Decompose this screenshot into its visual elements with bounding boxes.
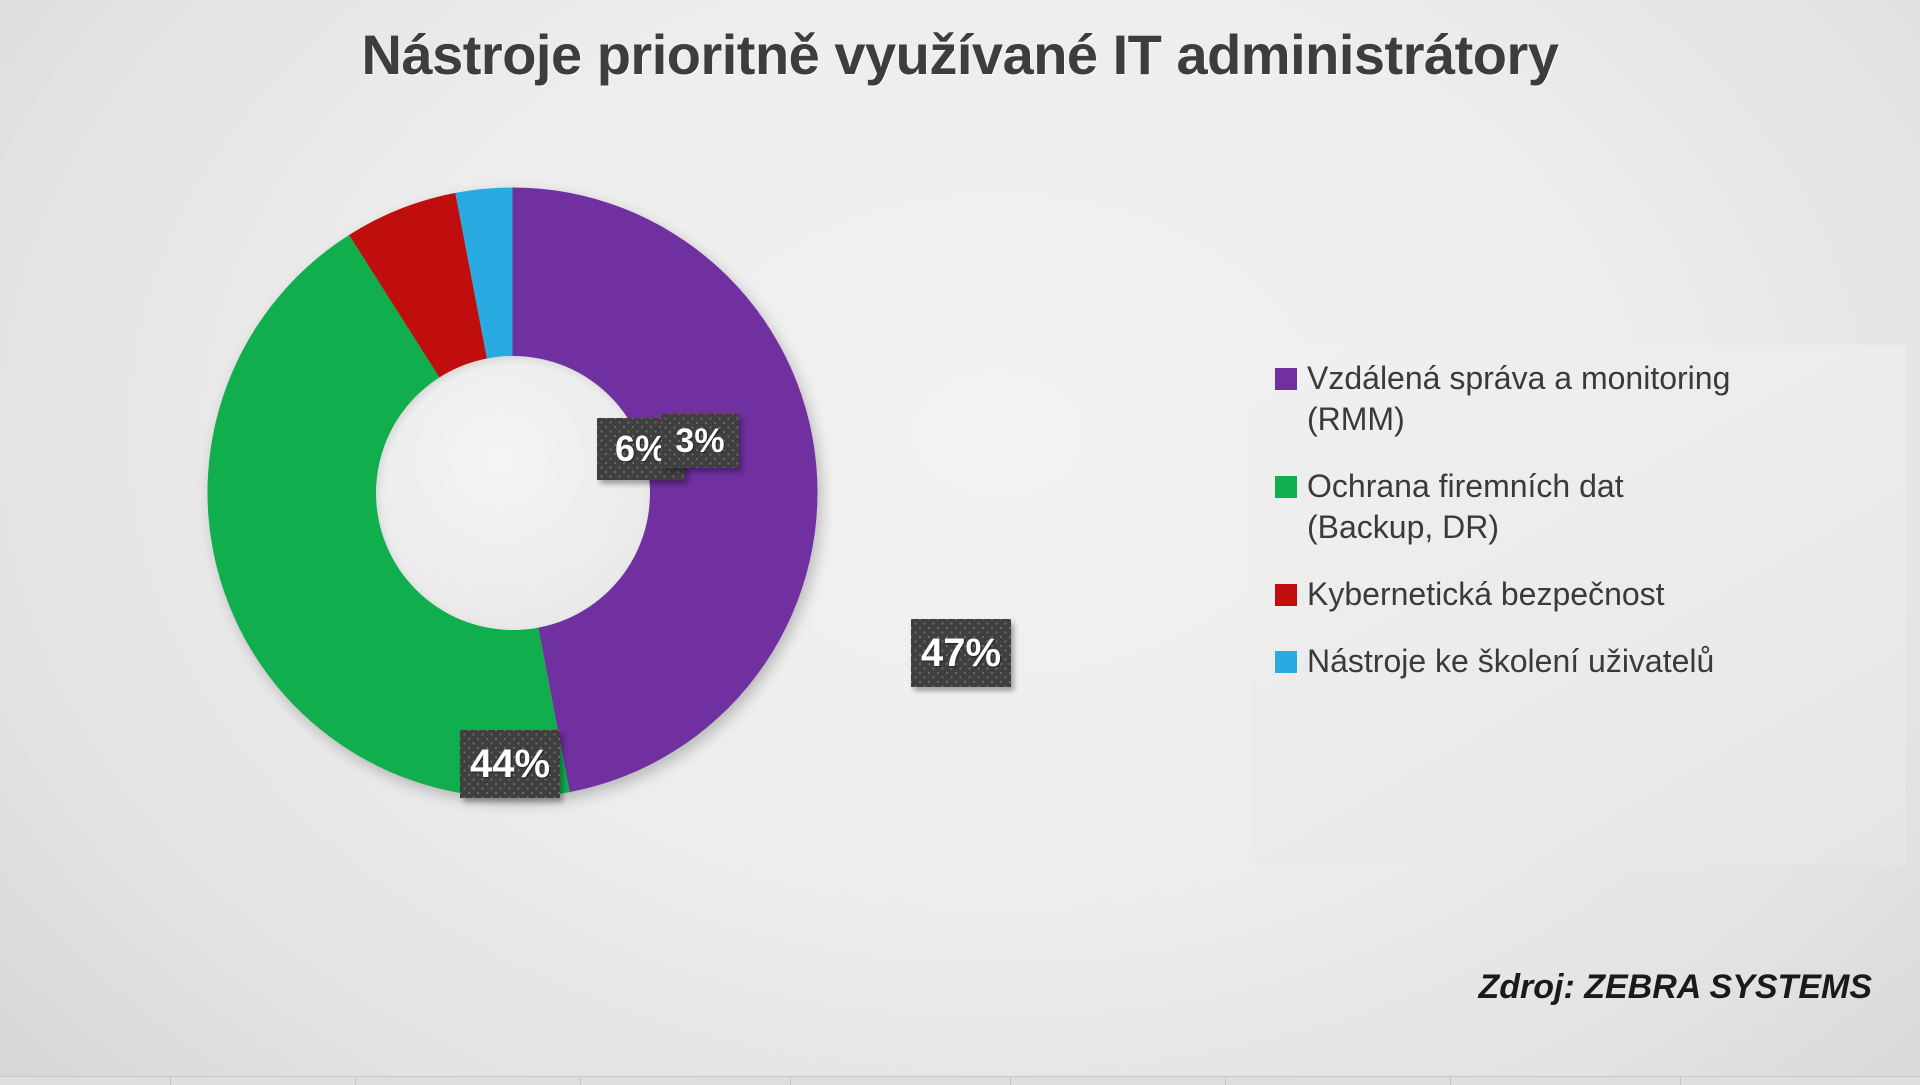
legend-swatch-backup xyxy=(1275,476,1297,498)
strip-tick xyxy=(790,1077,791,1085)
legend-swatch-cyber xyxy=(1275,584,1297,606)
data-label-rmm: 47% xyxy=(911,619,1011,687)
data-label-training: 3% xyxy=(661,414,739,468)
bottom-strip xyxy=(0,1076,1920,1085)
strip-tick xyxy=(1010,1077,1011,1085)
donut-chart-svg xyxy=(205,185,820,800)
legend-label-cyber: Kybernetická bezpečnost xyxy=(1307,574,1665,615)
donut-slice-group xyxy=(208,188,818,798)
legend-item-rmm[interactable]: Vzdálená správa a monitoring (RMM) xyxy=(1275,358,1895,440)
legend-label-backup: Ochrana firemních dat (Backup, DR) xyxy=(1307,466,1624,548)
page-title: Nástroje prioritně využívané IT administ… xyxy=(0,22,1920,87)
strip-tick xyxy=(1450,1077,1451,1085)
donut-slice-rmm[interactable] xyxy=(513,188,818,793)
legend-swatch-training xyxy=(1275,651,1297,673)
legend-swatch-rmm xyxy=(1275,368,1297,390)
legend-item-backup[interactable]: Ochrana firemních dat (Backup, DR) xyxy=(1275,466,1895,548)
source-note: Zdroj: ZEBRA SYSTEMS xyxy=(1478,968,1872,1007)
strip-tick xyxy=(355,1077,356,1085)
legend-list: Vzdálená správa a monitoring (RMM) Ochra… xyxy=(1275,358,1895,742)
legend-panel: Vzdálená správa a monitoring (RMM) Ochra… xyxy=(1249,345,1906,865)
legend-label-training: Nástroje ke školení uživatelů xyxy=(1307,641,1714,682)
legend-label-rmm: Vzdálená správa a monitoring (RMM) xyxy=(1307,358,1730,440)
strip-tick xyxy=(1225,1077,1226,1085)
strip-tick xyxy=(170,1077,171,1085)
strip-tick xyxy=(580,1077,581,1085)
legend-item-training[interactable]: Nástroje ke školení uživatelů xyxy=(1275,641,1895,682)
data-label-backup: 44% xyxy=(460,730,560,798)
donut-chart: 47% 44% 6% 3% xyxy=(205,185,820,800)
strip-tick xyxy=(1680,1077,1681,1085)
legend-item-cyber[interactable]: Kybernetická bezpečnost xyxy=(1275,574,1895,615)
slide-canvas: Nástroje prioritně využívané IT administ… xyxy=(0,0,1920,1085)
